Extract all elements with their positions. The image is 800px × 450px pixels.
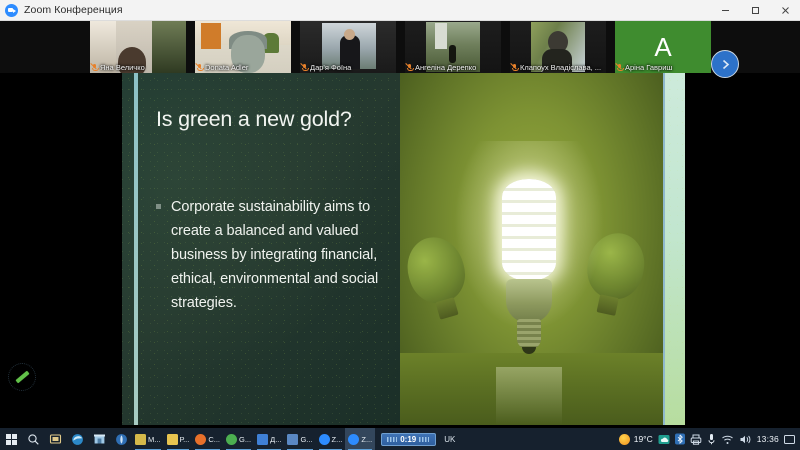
meet-icon bbox=[287, 434, 298, 445]
mic-muted-icon bbox=[512, 64, 518, 72]
taskbar-app-docs[interactable]: Д... bbox=[254, 428, 284, 450]
mic-muted-icon bbox=[302, 64, 308, 72]
taskbar-app-zoom-1[interactable]: Z... bbox=[316, 428, 346, 450]
participant-tile[interactable]: Яна Величко bbox=[90, 21, 186, 73]
taskbar-app-label: М... bbox=[148, 435, 161, 444]
blue-app-icon bbox=[115, 433, 128, 446]
search-button[interactable] bbox=[22, 428, 44, 450]
shared-screen-slide[interactable]: Is green a new gold? Corporate sustainab… bbox=[122, 73, 685, 425]
slide-text-panel: Is green a new gold? Corporate sustainab… bbox=[122, 73, 400, 425]
participant-filmstrip: Яна Величко Donata Adler bbox=[0, 21, 800, 73]
participant-nametag: Дар'я Фоїна bbox=[300, 62, 396, 73]
taskbar-app-label: С... bbox=[208, 435, 220, 444]
participant-tile[interactable]: Дар'я Фоїна bbox=[300, 21, 396, 73]
slide-bullet-text: Corporate sustainability aims to create … bbox=[171, 195, 388, 315]
wifi-icon[interactable] bbox=[721, 434, 734, 445]
task-view-icon bbox=[49, 433, 62, 445]
taskbar-app-label: Z... bbox=[332, 435, 343, 444]
language-indicator[interactable]: UK bbox=[444, 435, 455, 444]
participant-name: Дар'я Фоїна bbox=[310, 63, 351, 72]
mic-muted-icon bbox=[197, 64, 203, 72]
window-title-bar: Zoom Конференция bbox=[0, 0, 800, 21]
participant-name: Аріна Гавриш bbox=[625, 63, 672, 72]
windows-logo-icon bbox=[6, 434, 17, 445]
weather-widget[interactable]: 19°C bbox=[619, 434, 653, 445]
search-icon bbox=[27, 433, 40, 446]
participant-nametag: Donata Adler bbox=[195, 62, 291, 73]
chrome-icon bbox=[226, 434, 237, 445]
participant-nametag: Яна Величко bbox=[90, 62, 186, 73]
window-controls bbox=[710, 0, 800, 21]
taskbar-app-word[interactable]: М... bbox=[132, 428, 164, 450]
chevron-right-icon bbox=[719, 58, 732, 71]
timer-decoration bbox=[387, 437, 397, 442]
notification-icon[interactable] bbox=[784, 435, 795, 444]
slide-texture bbox=[663, 73, 685, 425]
sun-cloud-icon bbox=[619, 434, 630, 445]
participant-thumbnails: Яна Величко Donata Adler bbox=[90, 21, 711, 73]
taskbar-app-opera[interactable]: С... bbox=[192, 428, 223, 450]
mic-muted-icon bbox=[92, 64, 98, 72]
window-title: Zoom Конференция bbox=[24, 4, 123, 16]
taskbar-app-label: Р... bbox=[180, 435, 190, 444]
task-view-button[interactable] bbox=[44, 428, 66, 450]
minimize-button[interactable] bbox=[710, 0, 740, 21]
participant-tile[interactable]: Клапоух Владіслава, ... bbox=[510, 21, 606, 73]
volume-icon[interactable] bbox=[739, 434, 752, 445]
participant-nametag: Клапоух Владіслава, ... bbox=[510, 62, 606, 73]
slide-image bbox=[400, 73, 663, 425]
bluetooth-icon[interactable] bbox=[675, 433, 685, 445]
usb-icon[interactable] bbox=[707, 433, 716, 445]
zoom-meeting-window: Zoom Конференция Яна Величко bbox=[0, 0, 800, 450]
mic-muted-icon bbox=[617, 64, 623, 72]
participant-nametag: Ангеліна Дерепко bbox=[405, 62, 501, 73]
word-doc-icon bbox=[135, 434, 146, 445]
taskbar-app-zoom-2-active[interactable]: Z... bbox=[345, 428, 375, 450]
taskbar-app-label: Z... bbox=[361, 435, 372, 444]
weather-temperature: 19°C bbox=[634, 434, 653, 444]
store-icon bbox=[93, 433, 106, 445]
onedrive-icon[interactable] bbox=[658, 434, 670, 445]
zoom-icon bbox=[319, 434, 330, 445]
participant-tile[interactable]: Ангеліна Дерепко bbox=[405, 21, 501, 73]
taskbar-app-chrome[interactable]: G... bbox=[223, 428, 254, 450]
slide-right-gradient-strip bbox=[663, 73, 685, 425]
start-button[interactable] bbox=[0, 428, 22, 450]
zoom-camera-icon bbox=[5, 4, 18, 17]
participant-name: Клапоух Владіслава, ... bbox=[520, 63, 601, 72]
blue-app-button[interactable] bbox=[110, 428, 132, 450]
meeting-timer: 0:19 bbox=[400, 435, 416, 444]
mic-muted-icon bbox=[407, 64, 413, 72]
maximize-button[interactable] bbox=[740, 0, 770, 21]
glowing-cfl-bulb-icon bbox=[496, 175, 562, 365]
opera-icon bbox=[195, 434, 206, 445]
bullet-marker-icon bbox=[156, 204, 161, 209]
printer-icon[interactable] bbox=[690, 434, 702, 445]
annotation-pencil-icon[interactable] bbox=[8, 363, 36, 391]
filmstrip-next-page-button[interactable] bbox=[711, 50, 739, 78]
edge-button[interactable] bbox=[66, 428, 88, 450]
slide-accent-stripe bbox=[134, 73, 138, 425]
participant-name: Ангеліна Дерепко bbox=[415, 63, 476, 72]
timer-decoration bbox=[419, 437, 429, 442]
taskbar-app-label: Д... bbox=[270, 435, 281, 444]
participant-name: Donata Adler bbox=[205, 63, 248, 72]
taskbar-app-label: G... bbox=[239, 435, 251, 444]
pdf-icon bbox=[167, 434, 178, 445]
participant-tile[interactable]: A Аріна Гавриш bbox=[615, 21, 711, 73]
taskbar-app-meet[interactable]: G... bbox=[284, 428, 315, 450]
zoom-icon bbox=[348, 434, 359, 445]
taskbar-clock[interactable]: 13:36 bbox=[757, 434, 779, 444]
participant-nametag: Аріна Гавриш bbox=[615, 62, 711, 73]
image-reflection bbox=[496, 367, 562, 425]
taskbar-app-pdf[interactable]: Р... bbox=[164, 428, 193, 450]
participant-tile-active[interactable]: Donata Adler bbox=[195, 21, 291, 73]
edge-icon bbox=[71, 433, 84, 446]
docs-icon bbox=[257, 434, 268, 445]
close-button[interactable] bbox=[770, 0, 800, 21]
taskbar-app-label: G... bbox=[300, 435, 312, 444]
participant-name: Яна Величко bbox=[100, 63, 145, 72]
store-button[interactable] bbox=[88, 428, 110, 450]
slide-title: Is green a new gold? bbox=[156, 107, 396, 132]
system-tray: 19°C bbox=[619, 433, 800, 445]
windows-taskbar: М... Р... С... G... Д... G... bbox=[0, 428, 800, 450]
meeting-timer-badge[interactable]: 0:19 bbox=[381, 433, 436, 446]
slide-bullet-item: Corporate sustainability aims to create … bbox=[156, 195, 388, 315]
